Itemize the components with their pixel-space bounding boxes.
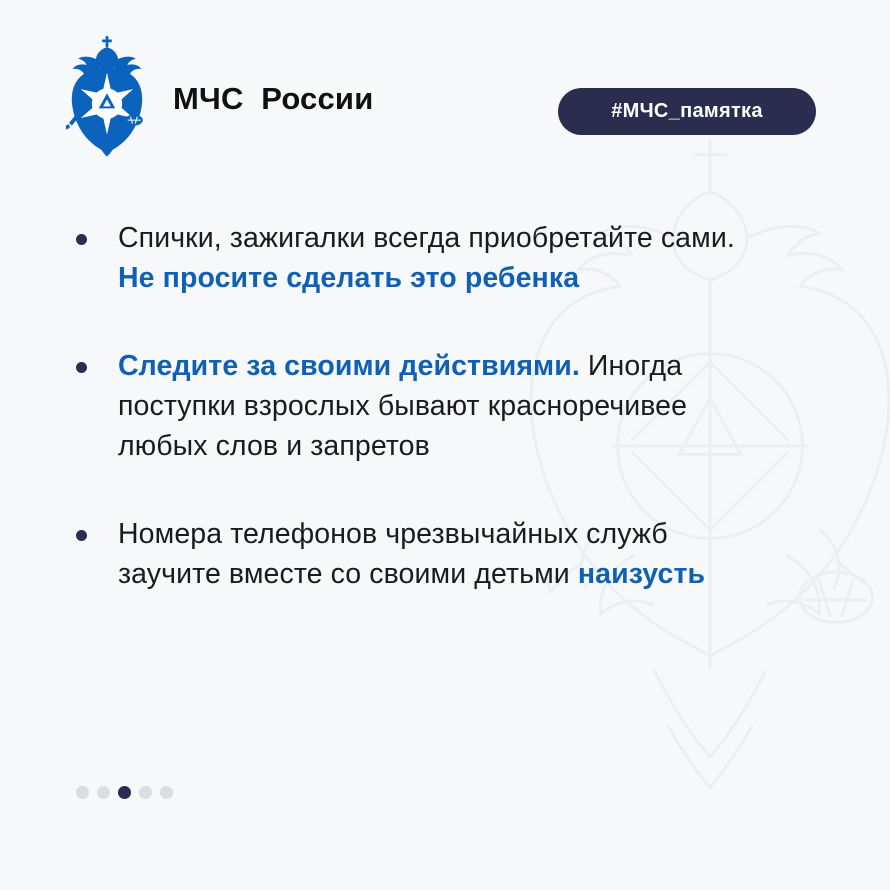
slide-header: МЧС России #МЧС_памятка <box>0 0 890 175</box>
bullet-list: Спички, зажигалки всегда приобретайте са… <box>72 218 772 594</box>
bullet-dot-icon <box>76 362 87 373</box>
highlight-text: Не просите сделать это ребенка <box>118 262 579 294</box>
bullet-dot-icon <box>76 530 87 541</box>
highlight-text: наизусть <box>578 558 705 590</box>
list-item: Спички, зажигалки всегда приобретайте са… <box>72 218 772 298</box>
pagination-dot[interactable] <box>97 786 110 799</box>
pagination-dot-active[interactable] <box>118 786 131 799</box>
bullet-dot-icon <box>76 234 87 245</box>
hashtag-badge[interactable]: #МЧС_памятка <box>558 88 816 135</box>
slide-card: МЧС России #МЧС_памятка Спички, зажигалк… <box>0 0 890 890</box>
highlight-text: Следите за своими действиями. <box>118 350 588 382</box>
list-item-text: Следите за своими действиями. Иногда пос… <box>118 346 772 466</box>
list-item-text: Спички, зажигалки всегда приобретайте са… <box>118 218 772 298</box>
pagination-dot[interactable] <box>76 786 89 799</box>
emercom-eagle-emblem-icon <box>55 34 159 158</box>
pagination-dot[interactable] <box>139 786 152 799</box>
list-item-text: Номера телефонов чрезвычайных служб зауч… <box>118 514 772 594</box>
body-text: Спички, зажигалки всегда приобретайте са… <box>118 222 735 254</box>
hashtag-badge-label: #МЧС_памятка <box>611 100 763 123</box>
list-item: Следите за своими действиями. Иногда пос… <box>72 346 772 466</box>
list-item: Номера телефонов чрезвычайных служб зауч… <box>72 514 772 594</box>
brand-block: МЧС России <box>55 34 373 158</box>
page-title: МЧС России <box>173 81 373 117</box>
pagination-dot[interactable] <box>160 786 173 799</box>
pagination-dots[interactable] <box>76 786 173 799</box>
